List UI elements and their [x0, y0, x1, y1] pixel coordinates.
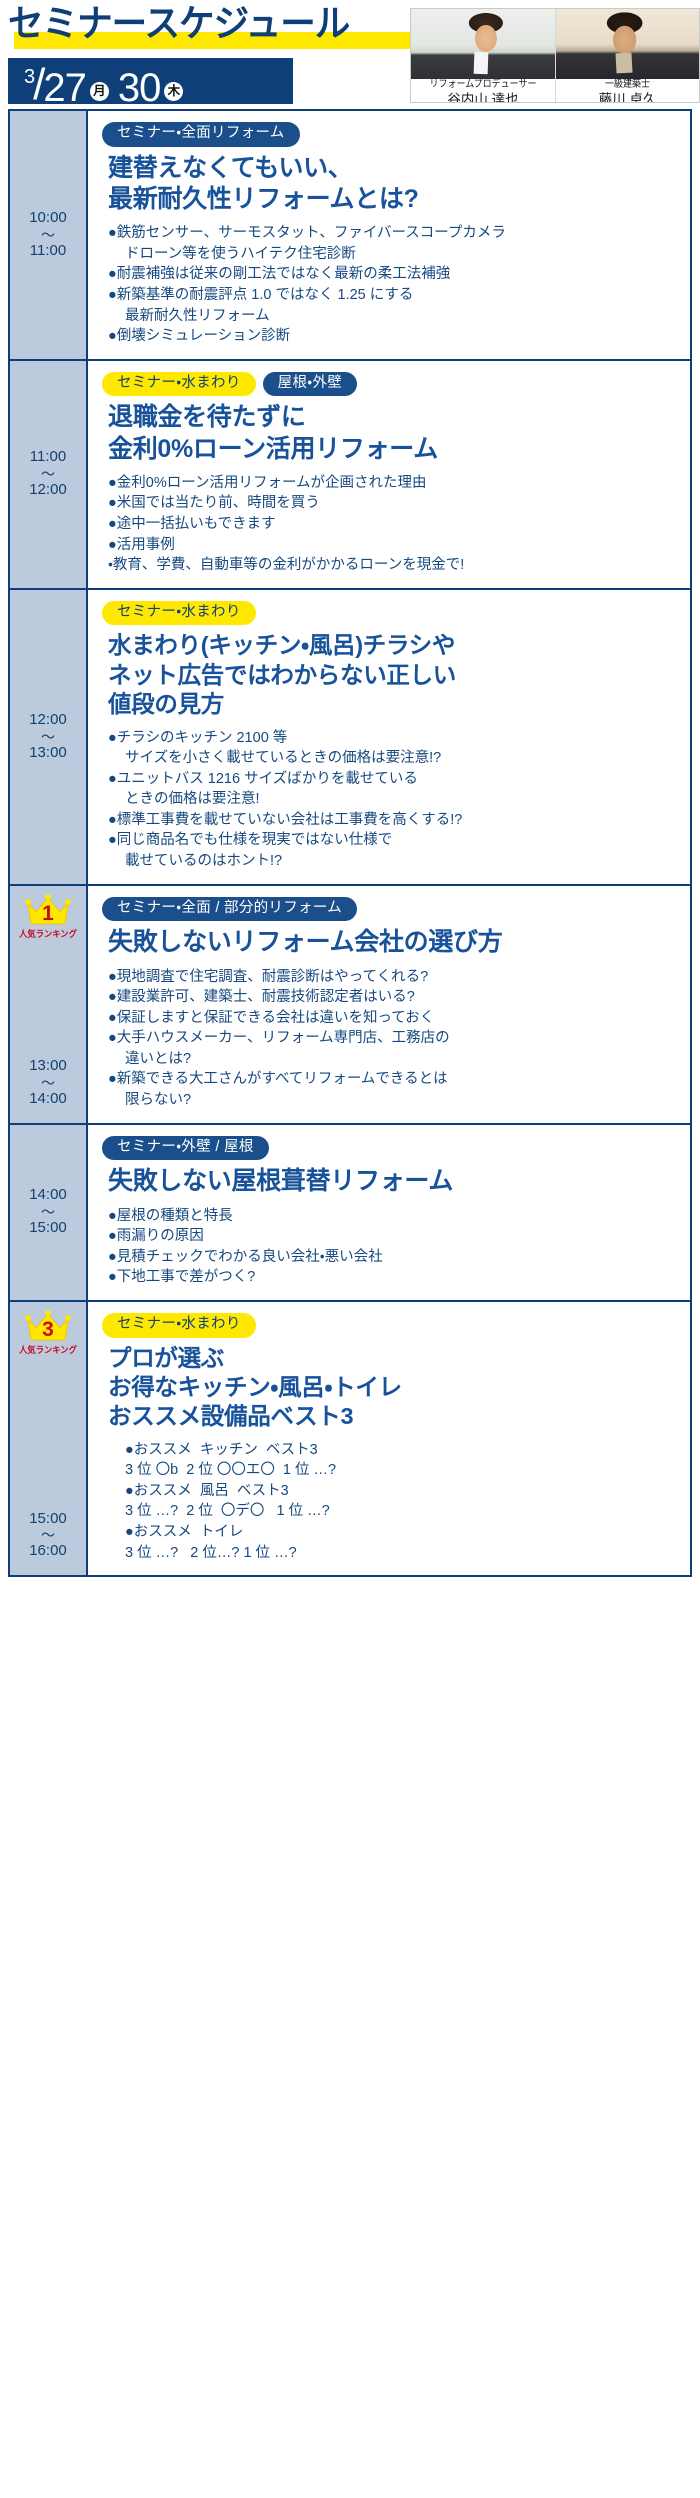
speaker-name-2: 藤川 卓久 [599, 92, 657, 102]
session-bullets: ●金利0%ローン活用リフォームが企画された理由●米国では当たり前、時間を買う●途… [102, 473, 676, 576]
time-separator: 〜 [41, 730, 55, 744]
time-start: 11:00 [30, 448, 66, 467]
speaker-card-2: 一級建築士 藤川 卓久 [555, 9, 699, 102]
session-tag[interactable]: 屋根・外壁 [263, 372, 357, 397]
session-title-line: 退職金を待たずに [108, 403, 306, 431]
session-tags: セミナー・全面 / 部分的リフォーム [102, 897, 676, 922]
date-dayofweek-first: 月 [90, 82, 109, 101]
session-bullet: 違いとは? [108, 1049, 676, 1070]
session-bullet: サイズを小さく載せているときの価格は要注意!? [108, 748, 676, 769]
session-bullet: ●建設業許可、建築士、耐震技術認定者はいる? [108, 987, 676, 1008]
session-body: セミナー・全面 / 部分的リフォーム失敗しないリフォーム会社の選び方●現地調査で… [88, 886, 690, 1123]
time-end: 12:00 [29, 481, 67, 500]
date-day-first: 27 [43, 68, 86, 104]
time-start: 15:00 [29, 1510, 67, 1529]
time-cell: 10:00〜11:00 [10, 111, 88, 359]
session-tags: セミナー・全面リフォーム [102, 122, 676, 147]
session-title-line: 値段の見方 [108, 691, 224, 717]
session-bullet: ●倒壊シミュレーション診断 [108, 326, 676, 347]
date-day-second: 30 [118, 68, 161, 104]
speaker-card-1: リフォームプロデューサー 谷内山 達也 [411, 9, 555, 102]
speaker-role-1: リフォームプロデューサー [418, 80, 548, 91]
time-cell: 1 人気ランキング 13:00〜14:00 [10, 886, 88, 1123]
date-banner: 3 / 27 月 30 木 [8, 58, 293, 104]
session-bullets: ●屋根の種類と特長●雨漏りの原因●見積チェックでわかる良い会社・悪い会社●下地工… [102, 1206, 676, 1288]
date-dayofweek-second: 木 [164, 82, 183, 101]
session-body: セミナー・水まわり水まわり(キッチン・風呂)チラシやネット広告ではわからない正し… [88, 590, 690, 884]
popularity-rank-label: 人気ランキング [13, 929, 83, 940]
session-tag[interactable]: セミナー・全面リフォーム [102, 122, 300, 147]
session-tags: セミナー・水まわり屋根・外壁 [102, 372, 676, 397]
session-bullet: 載せているのはホント!? [108, 851, 676, 872]
session-title-line: 失敗しないリフォーム会社の選び方 [108, 928, 502, 956]
session-bullet: ●現地調査で住宅調査、耐震診断はやってくれる? [108, 967, 676, 988]
page-title: セミナースケジュール [8, 2, 428, 54]
session-bullets: ●鉄筋センサー、サーモスタット、ファイバースコープカメラドローン等を使うハイテク… [102, 223, 676, 346]
time-separator: 〜 [41, 1076, 55, 1090]
time-start: 14:00 [29, 1186, 67, 1205]
page-header: セミナースケジュール 3 / 27 月 30 木 リフォームプロデューサー 谷内… [0, 0, 700, 105]
session-bullet: ●鉄筋センサー、サーモスタット、ファイバースコープカメラ [108, 223, 676, 244]
time-separator: 〜 [41, 1528, 55, 1542]
session-bullet: 最新耐久性リフォーム [108, 306, 676, 327]
session-body: セミナー・全面リフォーム建替えなくてもいい、最新耐久性リフォームとは?●鉄筋セン… [88, 111, 690, 359]
session-bullet: 3 位 〇b 2 位 〇〇エ〇 1 位 …? [108, 1460, 676, 1481]
time-cell: 12:00〜13:00 [10, 590, 88, 884]
popularity-rank-label: 人気ランキング [13, 1345, 83, 1356]
session-bullet: ●金利0%ローン活用リフォームが企画された理由 [108, 473, 676, 494]
session-bullet: ●雨漏りの原因 [108, 1226, 676, 1247]
session-title: 失敗しない屋根葺替リフォーム [108, 1166, 676, 1197]
session-tag[interactable]: セミナー・外壁 / 屋根 [102, 1136, 269, 1161]
popularity-rank-badge: 1 人気ランキング [10, 894, 86, 940]
session-bullet: ●見積チェックでわかる良い会社・悪い会社 [108, 1247, 676, 1268]
schedule-row: 11:00〜12:00セミナー・水まわり屋根・外壁退職金を待たずに金利0%ローン… [10, 361, 690, 590]
session-bullet: ●おススメ キッチン ベスト3 [108, 1440, 676, 1461]
speaker-caption-1: リフォームプロデューサー 谷内山 達也 [411, 79, 555, 102]
session-title: 建替えなくてもいい、最新耐久性リフォームとは? [108, 153, 676, 216]
session-bullet: ●米国では当たり前、時間を買う [108, 493, 676, 514]
session-bullet: ドローン等を使うハイテク住宅診断 [108, 244, 676, 265]
session-title-line: 失敗しない屋根葺替リフォーム [108, 1167, 453, 1195]
svg-text:1: 1 [42, 902, 54, 925]
session-bullet: 3 位 …? 2 位…? 1 位 …? [108, 1543, 676, 1564]
session-bullet: ●保証しますと保証できる会社は違いを知っておく [108, 1008, 676, 1029]
session-title-line: 水まわり(キッチン・風呂)チラシや [108, 632, 455, 658]
session-bullet: ●活用事例 [108, 535, 676, 556]
session-body: セミナー・外壁 / 屋根失敗しない屋根葺替リフォーム●屋根の種類と特長●雨漏りの… [88, 1125, 690, 1300]
schedule-row: 1 人気ランキング 13:00〜14:00セミナー・全面 / 部分的リフォーム失… [10, 886, 690, 1125]
seminar-schedule-page: セミナースケジュール 3 / 27 月 30 木 リフォームプロデューサー 谷内… [0, 0, 700, 1577]
session-bullet: ●チラシのキッチン 2100 等 [108, 728, 676, 749]
time-end: 13:00 [29, 744, 67, 763]
session-bullet: ●おススメ トイレ [108, 1522, 676, 1543]
time-start: 12:00 [29, 711, 67, 730]
session-bullet: ●新築基準の耐震評点 1.0 ではなく 1.25 にする [108, 285, 676, 306]
session-title-line: プロが選ぶ [108, 1345, 224, 1371]
page-title-text: セミナースケジュール [8, 2, 411, 46]
session-body: セミナー・水まわりプロが選ぶお得なキッチン・風呂・トイレおススメ設備品ベスト3●… [88, 1302, 690, 1575]
session-title: 水まわり(キッチン・風呂)チラシやネット広告ではわからない正しい値段の見方 [108, 631, 676, 719]
session-bullets: ●現地調査で住宅調査、耐震診断はやってくれる?●建設業許可、建築士、耐震技術認定… [102, 967, 676, 1111]
session-bullet: ●屋根の種類と特長 [108, 1206, 676, 1227]
schedule-row: 12:00〜13:00セミナー・水まわり水まわり(キッチン・風呂)チラシやネット… [10, 590, 690, 886]
time-end: 11:00 [30, 242, 66, 261]
speaker-caption-2: 一級建築士 藤川 卓久 [556, 79, 699, 102]
session-tag[interactable]: セミナー・水まわり [102, 601, 256, 626]
schedule-table: 10:00〜11:00セミナー・全面リフォーム建替えなくてもいい、最新耐久性リフ… [8, 109, 692, 1577]
session-bullet: ●おススメ 風呂 ベスト3 [108, 1481, 676, 1502]
crown-icon: 3 [25, 1310, 71, 1344]
session-body: セミナー・水まわり屋根・外壁退職金を待たずに金利0%ローン活用リフォーム●金利0… [88, 361, 690, 588]
session-bullet: ●ユニットバス 1216 サイズばかりを載せている [108, 769, 676, 790]
time-cell: 14:00〜15:00 [10, 1125, 88, 1300]
time-cell: 11:00〜12:00 [10, 361, 88, 588]
svg-text:3: 3 [42, 1318, 54, 1341]
speaker-photos: リフォームプロデューサー 谷内山 達也 一級建築士 藤川 卓久 [410, 8, 700, 103]
session-bullet: ●同じ商品名でも仕様を現実ではない仕様で [108, 830, 676, 851]
time-start: 13:00 [29, 1057, 67, 1076]
speaker-role-2: 一級建築士 [563, 80, 692, 91]
session-bullet: ●耐震補強は従来の剛工法ではなく最新の柔工法補強 [108, 264, 676, 285]
time-separator: 〜 [41, 1205, 55, 1219]
time-separator: 〜 [41, 467, 55, 481]
session-tag[interactable]: セミナー・水まわり [102, 1313, 256, 1338]
session-bullet: ●下地工事で差がつく? [108, 1267, 676, 1288]
speaker-photo-2 [556, 9, 699, 79]
session-tag[interactable]: セミナー・水まわり [102, 372, 256, 397]
session-title-line: お得なキッチン・風呂・トイレ [108, 1374, 402, 1400]
session-bullet: ●大手ハウスメーカー、リフォーム専門店、工務店の [108, 1028, 676, 1049]
time-end: 15:00 [29, 1219, 67, 1238]
session-bullet: 限らない? [108, 1090, 676, 1111]
session-title-line: おススメ設備品ベスト3 [108, 1403, 353, 1429]
crown-icon: 1 [25, 894, 71, 928]
session-tags: セミナー・水まわり [102, 601, 676, 626]
schedule-row: 3 人気ランキング 15:00〜16:00セミナー・水まわりプロが選ぶお得なキッ… [10, 1302, 690, 1575]
session-title-line: 建替えなくてもいい、 [108, 154, 353, 182]
time-start: 10:00 [29, 209, 67, 228]
session-bullet: ときの価格は要注意! [108, 789, 676, 810]
time-end: 14:00 [29, 1090, 67, 1109]
time-end: 16:00 [29, 1542, 67, 1561]
session-bullet: 3 位 …? 2 位 〇デ〇 1 位 …? [108, 1501, 676, 1522]
speaker-name-1: 谷内山 達也 [447, 92, 518, 102]
session-bullet: ・教育、学費、自動車等の金利がかかるローンを現金で! [108, 555, 676, 576]
schedule-row: 14:00〜15:00セミナー・外壁 / 屋根失敗しない屋根葺替リフォーム●屋根… [10, 1125, 690, 1302]
session-tags: セミナー・外壁 / 屋根 [102, 1136, 676, 1161]
session-tags: セミナー・水まわり [102, 1313, 676, 1338]
session-title-line: 金利0%ローン活用リフォーム [108, 435, 438, 463]
session-title-line: 最新耐久性リフォームとは? [108, 185, 419, 213]
session-tag[interactable]: セミナー・全面 / 部分的リフォーム [102, 897, 357, 922]
session-title: 退職金を待たずに金利0%ローン活用リフォーム [108, 402, 676, 465]
session-bullet: ●途中一括払いもできます [108, 514, 676, 535]
popularity-rank-badge: 3 人気ランキング [10, 1310, 86, 1356]
session-title: プロが選ぶお得なキッチン・風呂・トイレおススメ設備品ベスト3 [108, 1344, 676, 1432]
schedule-row: 10:00〜11:00セミナー・全面リフォーム建替えなくてもいい、最新耐久性リフ… [10, 111, 690, 361]
speaker-photo-1 [411, 9, 555, 79]
session-bullets: ●おススメ キッチン ベスト33 位 〇b 2 位 〇〇エ〇 1 位 …?●おス… [102, 1440, 676, 1563]
session-title: 失敗しないリフォーム会社の選び方 [108, 927, 676, 958]
session-bullet: ●新築できる大工さんがすべてリフォームできるとは [108, 1069, 676, 1090]
time-separator: 〜 [41, 228, 55, 242]
time-cell: 3 人気ランキング 15:00〜16:00 [10, 1302, 88, 1575]
session-bullets: ●チラシのキッチン 2100 等サイズを小さく載せているときの価格は要注意!?●… [102, 728, 676, 872]
session-bullet: ●標準工事費を載せていない会社は工事費を高くする!? [108, 810, 676, 831]
session-title-line: ネット広告ではわからない正しい [108, 662, 456, 688]
